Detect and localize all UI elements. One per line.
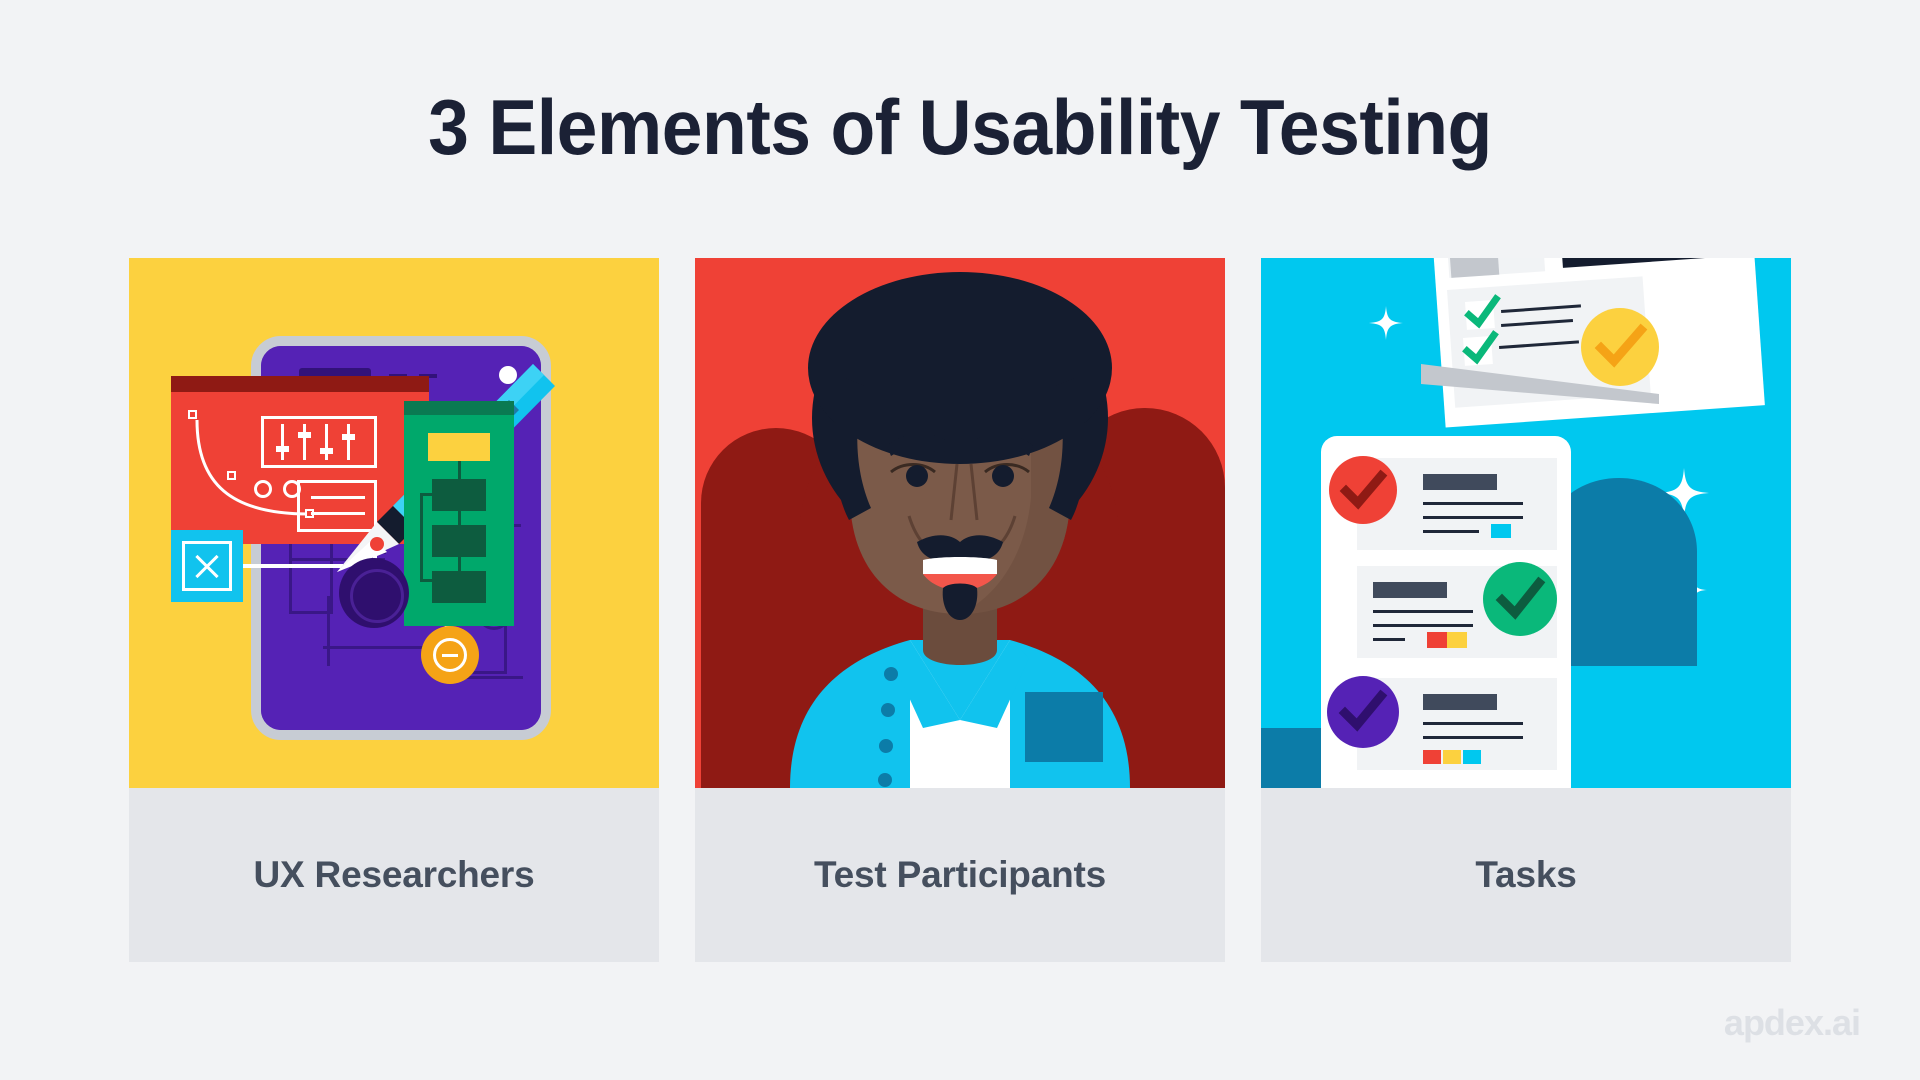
minus-badge-icon (421, 626, 479, 684)
red-check-badge-icon (1329, 456, 1397, 524)
teal-block (1261, 728, 1321, 788)
card-tasks[interactable]: Tasks (1261, 258, 1791, 962)
card-label-test-participants: Test Participants (814, 854, 1106, 896)
green-check-badge-icon (1483, 562, 1557, 636)
card-caption-test-participants: Test Participants (695, 788, 1225, 962)
card-ux-researchers[interactable]: UX Researchers (129, 258, 659, 962)
close-tile-icon (171, 530, 243, 602)
node-circle-icon (339, 558, 409, 628)
card-label-ux-researchers: UX Researchers (253, 854, 534, 896)
participant-portrait-illustration (695, 258, 1225, 788)
card-caption-ux-researchers: UX Researchers (129, 788, 659, 962)
apdex-watermark: apdex.ai (1724, 1002, 1860, 1044)
sparkle-icon-1 (1369, 306, 1403, 340)
purple-check-badge-icon (1327, 676, 1399, 748)
card-art-tasks (1261, 258, 1791, 788)
infographic-page: 3 Elements of Usability Testing (0, 0, 1920, 1080)
card-label-tasks: Tasks (1475, 854, 1576, 896)
page-title: 3 Elements of Usability Testing (58, 84, 1863, 170)
card-caption-tasks: Tasks (1261, 788, 1791, 962)
card-test-participants[interactable]: Test Participants (695, 258, 1225, 962)
card-art-test-participants (695, 258, 1225, 788)
card-art-ux-researchers (129, 258, 659, 788)
green-panel-illustration (404, 401, 514, 626)
cards-row: UX Researchers (129, 258, 1791, 962)
